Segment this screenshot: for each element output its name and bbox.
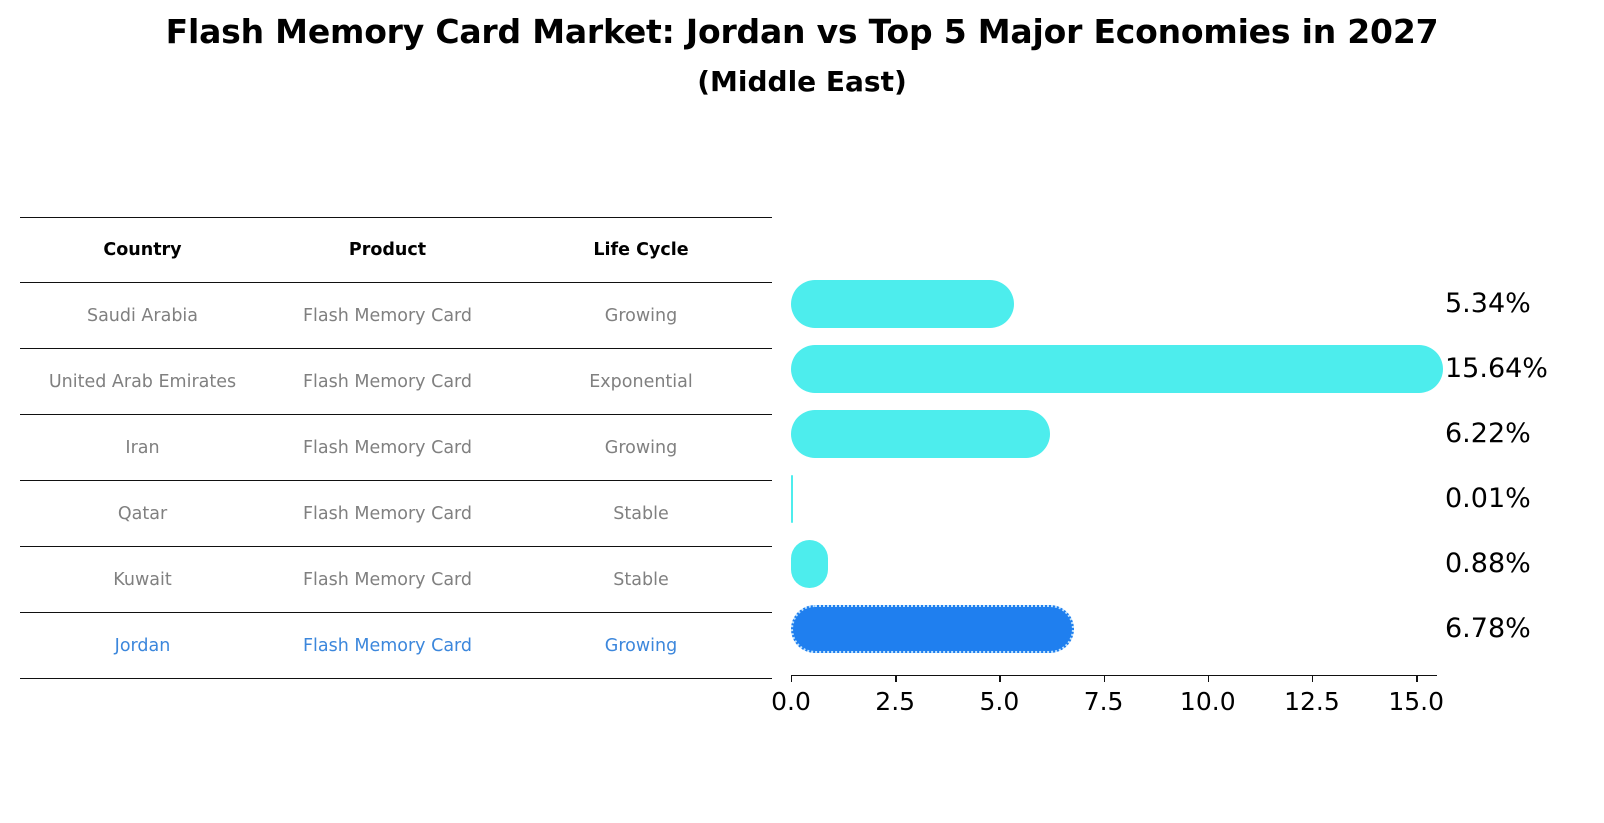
- table-row: KuwaitFlash Memory CardStable: [20, 547, 772, 613]
- bar[interactable]: [791, 345, 1443, 393]
- x-axis-line: [791, 675, 1437, 676]
- x-tick-label: 12.5: [1284, 687, 1340, 716]
- bar[interactable]: [791, 475, 793, 523]
- country-product-table: Country Product Life Cycle Saudi ArabiaF…: [20, 217, 772, 679]
- x-tick-mark: [1312, 675, 1313, 682]
- table-row: QatarFlash Memory CardStable: [20, 481, 772, 547]
- x-tick-mark: [1104, 675, 1105, 682]
- bar[interactable]: [791, 410, 1050, 458]
- bar-row: 0.88%: [791, 540, 1437, 588]
- page-title: Flash Memory Card Market: Jordan vs Top …: [0, 10, 1604, 55]
- x-tick-mark: [895, 675, 896, 682]
- table-row: Saudi ArabiaFlash Memory CardGrowing: [20, 283, 772, 349]
- x-tick-label: 2.5: [875, 687, 915, 716]
- table-row: IranFlash Memory CardGrowing: [20, 415, 772, 481]
- cell-life-cycle: Stable: [510, 547, 772, 613]
- page-subtitle: (Middle East): [0, 63, 1604, 101]
- cell-product: Flash Memory Card: [265, 283, 510, 349]
- x-tick-label: 10.0: [1180, 687, 1236, 716]
- x-tick-label: 5.0: [979, 687, 1019, 716]
- bar[interactable]: [791, 540, 828, 588]
- bar[interactable]: [791, 280, 1014, 328]
- bar-highlight[interactable]: [791, 605, 1074, 653]
- cell-country: Jordan: [20, 613, 265, 679]
- cell-country: Saudi Arabia: [20, 283, 265, 349]
- cell-life-cycle: Stable: [510, 481, 772, 547]
- table-row: United Arab EmiratesFlash Memory CardExp…: [20, 349, 772, 415]
- cell-product: Flash Memory Card: [265, 415, 510, 481]
- x-tick-mark: [1208, 675, 1209, 682]
- x-tick-label: 15.0: [1388, 687, 1444, 716]
- table-body: Saudi ArabiaFlash Memory CardGrowingUnit…: [20, 283, 772, 679]
- bar-chart: 5.34%15.64%6.22%0.01%0.88%6.78% 0.02.55.…: [791, 217, 1437, 675]
- x-tick-mark: [1416, 675, 1417, 682]
- cell-life-cycle: Growing: [510, 415, 772, 481]
- bar-value-label: 0.88%: [1445, 540, 1531, 588]
- cell-country: Kuwait: [20, 547, 265, 613]
- x-tick-label: 7.5: [1084, 687, 1124, 716]
- cell-life-cycle: Exponential: [510, 349, 772, 415]
- cell-product: Flash Memory Card: [265, 349, 510, 415]
- column-header-life-cycle: Life Cycle: [510, 218, 772, 283]
- bar-value-label: 15.64%: [1445, 345, 1548, 393]
- bar-value-label: 6.22%: [1445, 410, 1531, 458]
- bar-value-label: 6.78%: [1445, 605, 1531, 653]
- cell-life-cycle: Growing: [510, 283, 772, 349]
- cell-product: Flash Memory Card: [265, 613, 510, 679]
- bar-value-label: 5.34%: [1445, 280, 1531, 328]
- title-block: Flash Memory Card Market: Jordan vs Top …: [0, 10, 1604, 100]
- data-table-wrap: Country Product Life Cycle Saudi ArabiaF…: [20, 217, 772, 679]
- table-row: JordanFlash Memory CardGrowing: [20, 613, 772, 679]
- bar-row: 0.01%: [791, 475, 1437, 523]
- column-header-country: Country: [20, 218, 265, 283]
- x-tick-mark: [791, 675, 792, 682]
- cell-country: Qatar: [20, 481, 265, 547]
- bar-row: 15.64%: [791, 345, 1437, 393]
- bar-row: 6.78%: [791, 605, 1437, 653]
- table-header-row: Country Product Life Cycle: [20, 218, 772, 283]
- x-tick-mark: [999, 675, 1000, 682]
- column-header-product: Product: [265, 218, 510, 283]
- x-tick-label: 0.0: [771, 687, 811, 716]
- cell-life-cycle: Growing: [510, 613, 772, 679]
- cell-country: Iran: [20, 415, 265, 481]
- cell-product: Flash Memory Card: [265, 481, 510, 547]
- cell-product: Flash Memory Card: [265, 547, 510, 613]
- bar-row: 6.22%: [791, 410, 1437, 458]
- bar-row: 5.34%: [791, 280, 1437, 328]
- cell-country: United Arab Emirates: [20, 349, 265, 415]
- bar-value-label: 0.01%: [1445, 475, 1531, 523]
